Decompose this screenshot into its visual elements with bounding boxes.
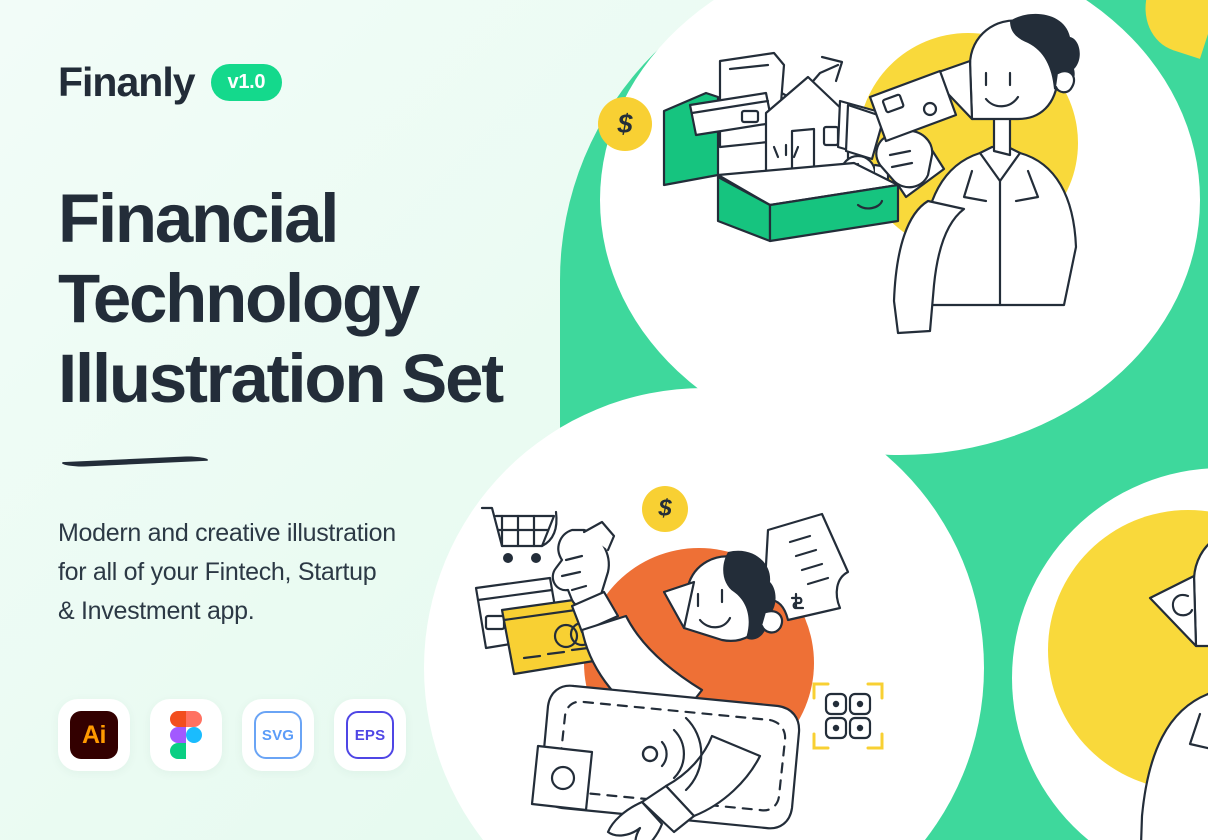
adobe-illustrator-icon: Ai xyxy=(70,711,118,759)
format-badge-eps[interactable]: EPS xyxy=(334,699,406,771)
format-badge-svg[interactable]: SVG xyxy=(242,699,314,771)
person-holding-card xyxy=(868,5,1168,335)
headline-line-2: Technology xyxy=(58,259,578,339)
headline-line-1: Financial xyxy=(58,179,578,259)
format-badge-ai[interactable]: Ai xyxy=(58,699,130,771)
version-badge: v1.0 xyxy=(211,64,283,101)
poster-canvas: $ xyxy=(0,0,1208,840)
figma-shape-purple xyxy=(170,727,186,743)
subheading-line-3: & Investment app. xyxy=(58,592,578,631)
hero-text-column: Finanly v1.0 Financial Technology Illust… xyxy=(58,0,578,840)
page-title: Financial Technology Illustration Set xyxy=(58,179,578,419)
format-badge-row: Ai SVG EPS xyxy=(58,699,578,771)
figma-shape-green xyxy=(170,743,186,759)
figma-icon xyxy=(170,711,202,759)
svg-format-icon: SVG xyxy=(254,711,302,759)
investment-portfolio-illustration: $ xyxy=(600,0,1200,455)
dollar-symbol: $ xyxy=(658,495,671,523)
figma-shape-blue xyxy=(186,727,202,743)
dollar-symbol: $ xyxy=(617,109,632,140)
figma-shape-red xyxy=(170,711,186,727)
subheading-line-1: Modern and creative illustration xyxy=(58,514,578,553)
headline-line-3: Illustration Set xyxy=(58,339,578,419)
person-figure xyxy=(1096,518,1208,840)
subheading: Modern and creative illustration for all… xyxy=(58,514,578,631)
eps-format-icon: EPS xyxy=(346,711,394,759)
figma-shape-pink xyxy=(186,711,202,727)
format-badge-figma[interactable] xyxy=(150,699,222,771)
subheading-line-2: for all of your Fintech, Startup xyxy=(58,553,578,592)
person-portrait-illustration xyxy=(1012,468,1208,840)
brand-name: Finanly xyxy=(58,62,195,103)
dollar-coin-badge: $ xyxy=(598,97,652,151)
brush-stroke-divider xyxy=(62,456,208,468)
brand-row: Finanly v1.0 xyxy=(58,62,578,103)
